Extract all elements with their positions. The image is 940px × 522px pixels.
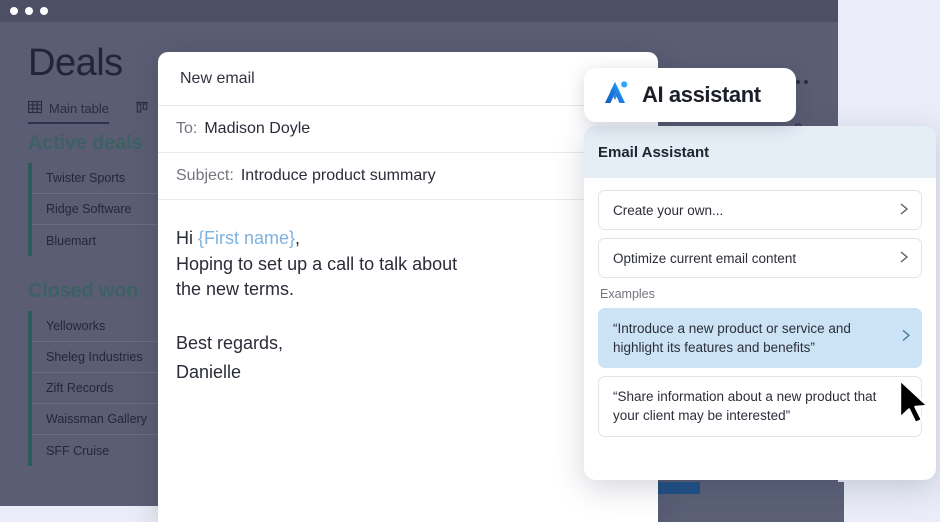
background-chart-block (654, 482, 844, 522)
ai-logo-icon (598, 76, 632, 115)
ai-assistant-badge[interactable]: AI assistant (584, 68, 796, 122)
window-maximize-dot[interactable] (40, 7, 48, 15)
examples-label: Examples (600, 287, 922, 301)
email-to-field[interactable]: To: Madison Doyle (158, 106, 658, 153)
tab-main-table-label: Main table (49, 101, 109, 116)
email-body-line-2: the new terms. (176, 277, 640, 303)
tab-main-table[interactable]: Main table (28, 100, 109, 124)
window-titlebar (0, 0, 838, 22)
greeting-suffix: , (295, 228, 300, 248)
email-signature-block: Best regards, Danielle (176, 331, 640, 386)
deal-name: Bluemart (46, 234, 96, 248)
email-signature-name: Danielle (176, 360, 640, 386)
option-optimize-current-email[interactable]: Optimize current email content (598, 238, 922, 278)
window-minimize-dot[interactable] (25, 7, 33, 15)
email-signoff: Best regards, (176, 331, 640, 357)
merge-tag-first-name: {First name} (198, 228, 295, 248)
deal-name: Twister Sports (46, 171, 125, 185)
example-card[interactable]: “Share information about a new product t… (598, 376, 922, 436)
option-create-your-own[interactable]: Create your own... (598, 190, 922, 230)
tab-kanban[interactable] (135, 101, 156, 123)
chevron-right-icon (899, 250, 909, 267)
new-email-card: New email To: Madison Doyle Subject: Int… (158, 52, 658, 522)
email-body[interactable]: Hi {First name}, Hoping to set up a call… (158, 200, 658, 386)
option-create-your-own-label: Create your own... (613, 203, 723, 218)
email-subject-field[interactable]: Subject: Introduce product summary (158, 153, 658, 200)
example-card-text: “Introduce a new product or service and … (613, 321, 851, 355)
deal-name: Yelloworks (46, 319, 105, 333)
email-greeting: Hi {First name}, (176, 226, 640, 252)
email-assistant-panel: Email Assistant Create your own... Optim… (584, 126, 936, 480)
kanban-board-icon (135, 101, 149, 118)
greeting-prefix: Hi (176, 228, 198, 248)
email-to-label: To: (176, 120, 197, 138)
view-tabs: Main table (28, 100, 156, 124)
email-subject-label: Subject: (176, 167, 234, 185)
window-close-dot[interactable] (10, 7, 18, 15)
assistant-panel-header: Email Assistant (584, 126, 936, 178)
chevron-right-icon (901, 397, 911, 416)
ai-assistant-badge-label: AI assistant (642, 82, 761, 108)
deal-name: Sheleg Industries (46, 350, 143, 364)
chevron-right-icon (899, 202, 909, 219)
email-card-title: New email (158, 52, 658, 106)
assistant-panel-content: Create your own... Optimize current emai… (584, 178, 936, 437)
email-body-line-1: Hoping to set up a call to talk about (176, 252, 640, 278)
table-grid-icon (28, 100, 42, 117)
email-subject-value: Introduce product summary (241, 167, 436, 185)
deal-name: Ridge Software (46, 202, 131, 216)
email-to-value: Madison Doyle (204, 120, 310, 138)
chevron-right-icon (901, 329, 911, 348)
example-card-text: “Share information about a new product t… (613, 389, 876, 423)
option-optimize-current-email-label: Optimize current email content (613, 251, 796, 266)
example-card-selected[interactable]: “Introduce a new product or service and … (598, 308, 922, 368)
deal-name: Waissman Gallery (46, 412, 147, 426)
deal-name: Zift Records (46, 381, 113, 395)
screenshot-root: Deals Main table (0, 0, 940, 522)
page-title: Deals (28, 42, 123, 85)
deal-name: SFF Cruise (46, 444, 109, 458)
